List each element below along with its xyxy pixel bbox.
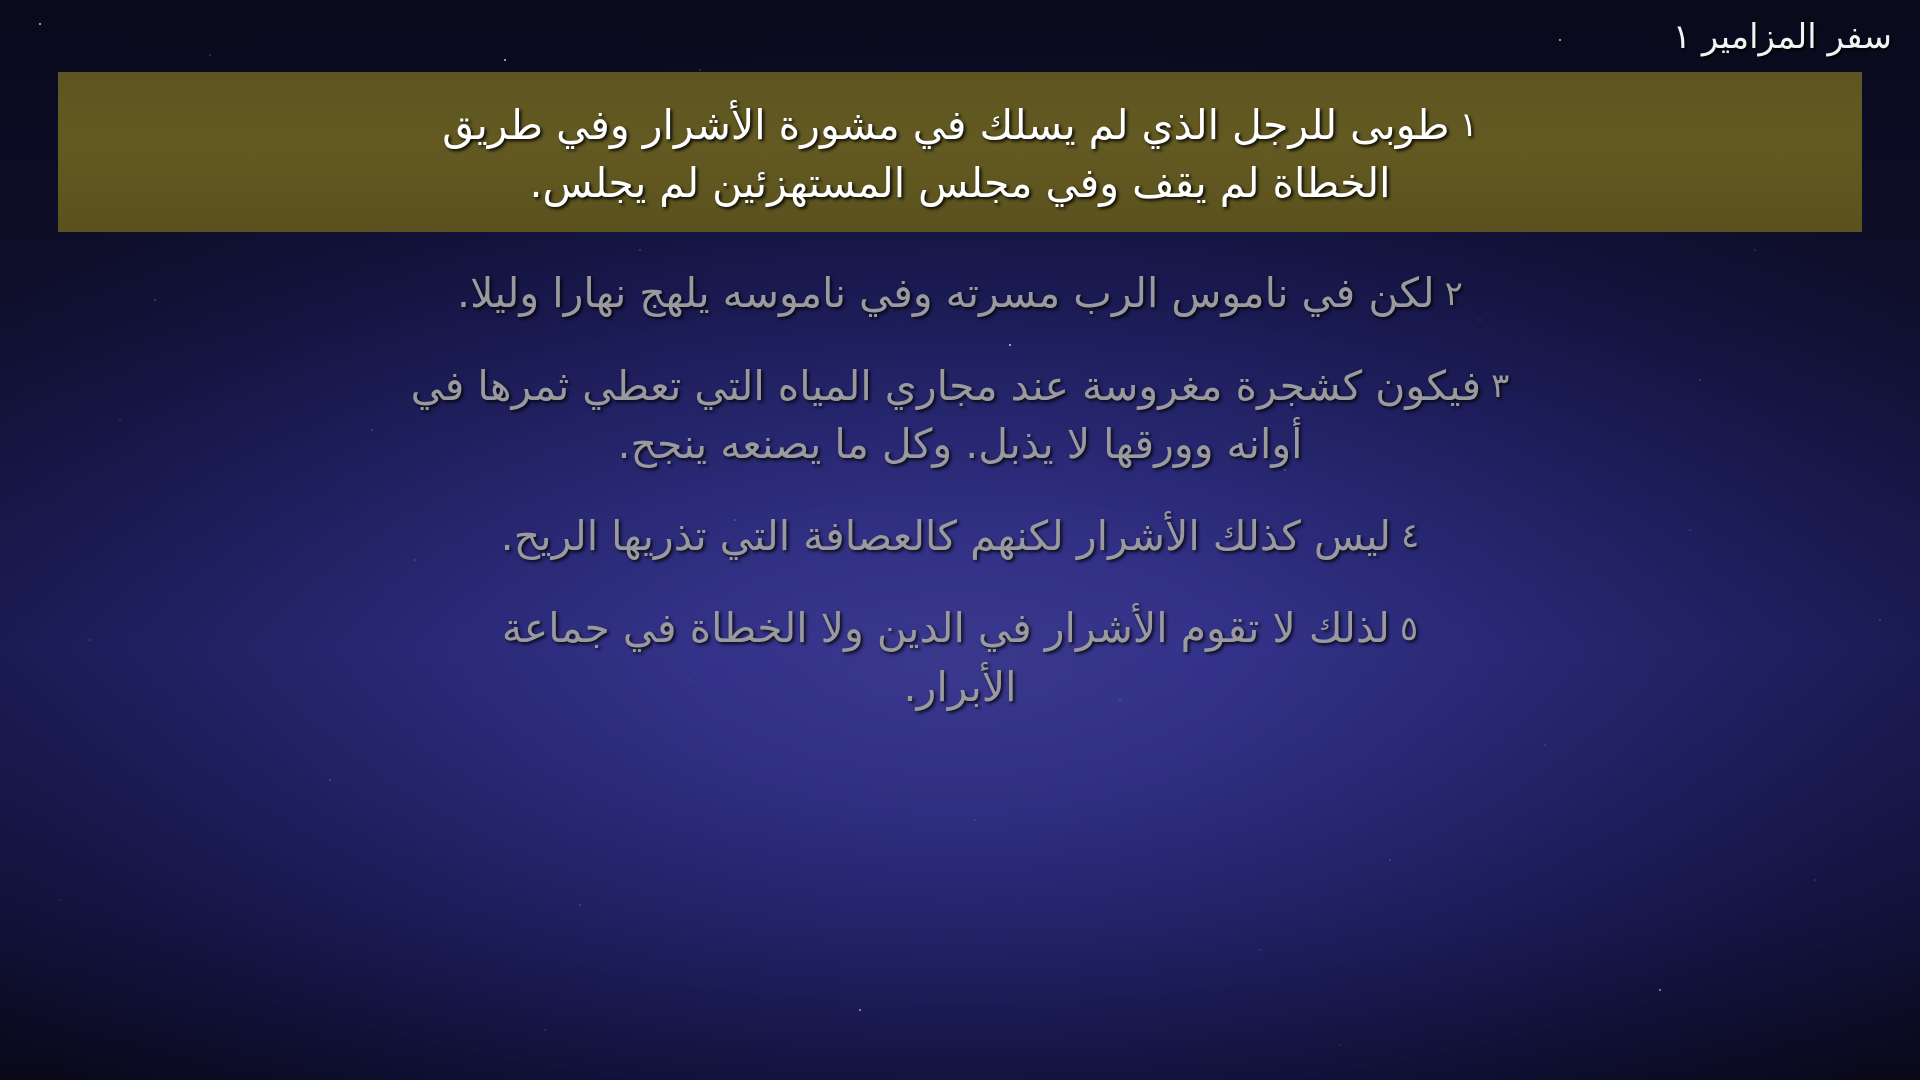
verse-2-number: ٢ [1435,274,1463,314]
verse-4-number: ٤ [1391,516,1419,556]
verse-3-inner: ٣فيكون كشجرة مغروسة عند مجاري المياه الت… [410,357,1510,473]
verse-2[interactable]: ٢لكن في ناموس الرب مسرته وفي ناموسه يلهج… [0,254,1920,332]
verse-1[interactable]: ١طوبى للرجل الذي لم يسلك في مشورة الأشرا… [58,72,1862,232]
verse-1-number: ١ [1450,105,1478,145]
verse-4-text: ليس كذلك الأشرار لكنهم كالعصافة التي تذر… [501,512,1391,560]
verse-list: ١طوبى للرجل الذي لم يسلك في مشورة الأشرا… [0,72,1920,1080]
verse-5-number: ٥ [1390,609,1418,649]
verse-2-inner: ٢لكن في ناموس الرب مسرته وفي ناموسه يلهج… [370,264,1550,322]
verse-2-text: لكن في ناموس الرب مسرته وفي ناموسه يلهج … [457,269,1435,317]
verse-3[interactable]: ٣فيكون كشجرة مغروسة عند مجاري المياه الت… [0,347,1920,483]
verse-3-number: ٣ [1481,366,1509,406]
chapter-title: سفر المزامير ١ [1673,16,1892,59]
verse-5-inner: ٥لذلك لا تقوم الأشرار في الدين ولا الخطا… [450,599,1470,715]
verse-5-text: لذلك لا تقوم الأشرار في الدين ولا الخطاة… [502,604,1390,710]
verse-1-inner: ١طوبى للرجل الذي لم يسلك في مشورة الأشرا… [395,96,1525,212]
verse-4-inner: ٤ليس كذلك الأشرار لكنهم كالعصافة التي تذ… [420,507,1500,565]
verse-4[interactable]: ٤ليس كذلك الأشرار لكنهم كالعصافة التي تذ… [0,497,1920,575]
presentation-stage: سفر المزامير ١ ١طوبى للرجل الذي لم يسلك … [0,0,1920,1080]
verse-1-text: طوبى للرجل الذي لم يسلك في مشورة الأشرار… [442,101,1449,207]
verse-5[interactable]: ٥لذلك لا تقوم الأشرار في الدين ولا الخطا… [0,589,1920,725]
verse-3-text: فيكون كشجرة مغروسة عند مجاري المياه التي… [411,362,1482,468]
